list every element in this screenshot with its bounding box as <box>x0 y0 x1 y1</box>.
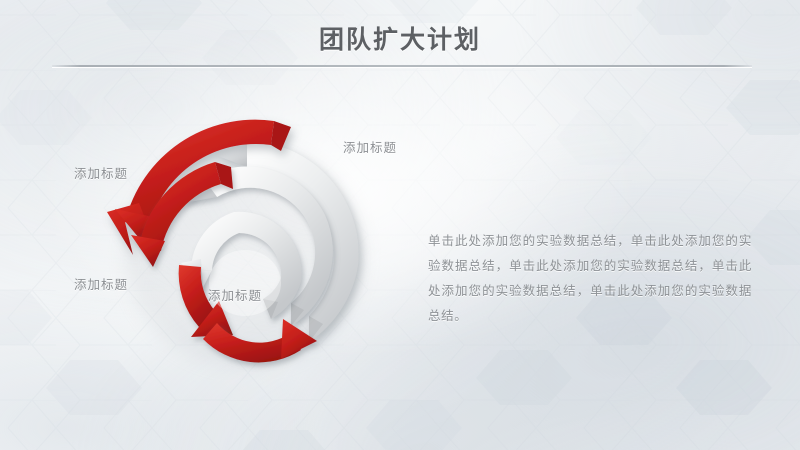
diagram-label-top-right: 添加标题 <box>343 137 397 156</box>
slide-canvas: 团队扩大计划 <box>0 0 800 450</box>
body-paragraph: 单击此处添加您的实验数据总结，单击此处添加您的实验数据总结，单击此处添加您的实验… <box>428 228 752 328</box>
diagram-label-bottom-left: 添加标题 <box>74 274 128 293</box>
page-title: 团队扩大计划 <box>0 20 800 56</box>
title-divider <box>52 65 752 67</box>
spiral-arrow-diagram <box>95 105 385 380</box>
diagram-label-top-left: 添加标题 <box>74 163 128 182</box>
diagram-label-center: 添加标题 <box>208 285 262 304</box>
